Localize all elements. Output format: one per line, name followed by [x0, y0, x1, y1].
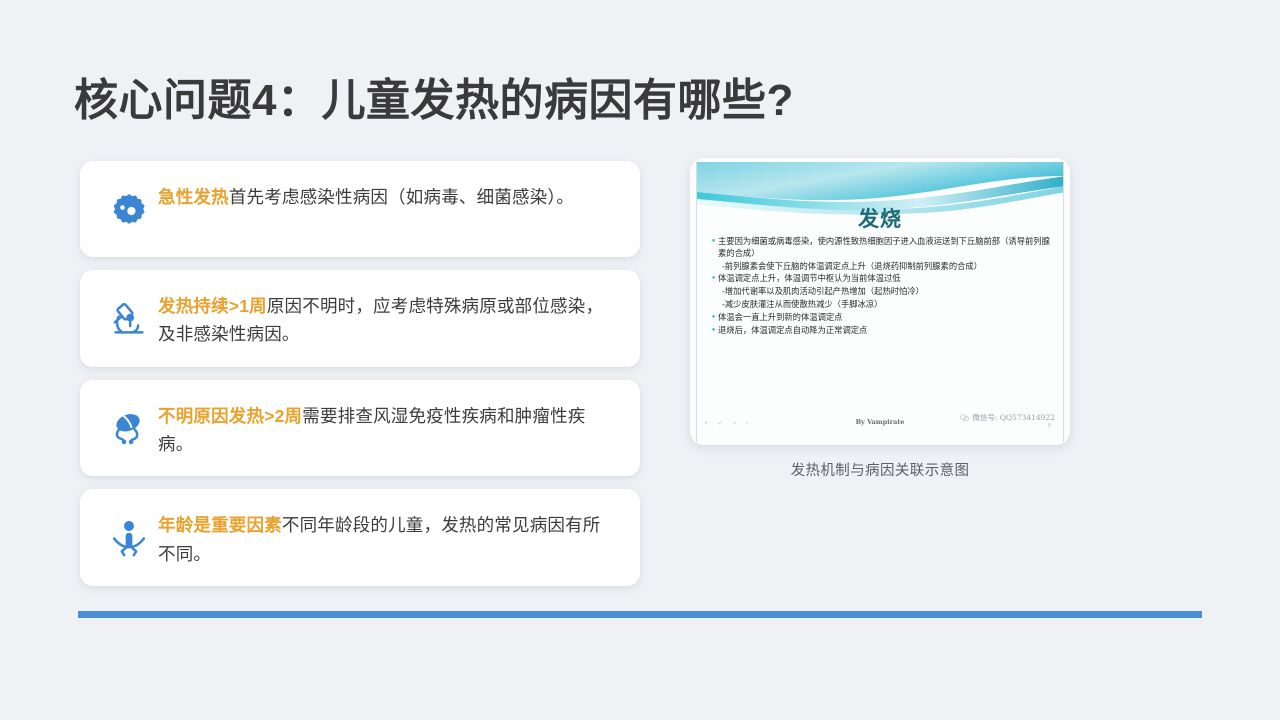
info-card-highlight: 急性发热	[158, 187, 229, 207]
slide-bullet: • 体温会一直上升到新的体温调定点	[709, 312, 1053, 324]
page-title: 核心问题4：儿童发热的病因有哪些?	[74, 64, 794, 128]
presentation-slide: 核心问题4：儿童发热的病因有哪些? 急性发热首先考虑感染性病因（如病毒、细菌感染…	[0, 0, 1280, 720]
slide-page-number: 5	[1048, 423, 1051, 429]
embedded-slide-body: • 主要因为细菌或病毒感染，使内源性致热细胞因子进入血液运送到下丘脑前部（诱导前…	[709, 236, 1053, 338]
wechat-id-text: 微信号: QQ573414922	[972, 412, 1055, 423]
microscope-icon	[100, 290, 158, 348]
embedded-slide-canvas: 发烧 • 主要因为细菌或病毒感染，使内源性致热细胞因子进入血液运送到下丘脑前部（…	[696, 162, 1064, 442]
figure-block: 发烧 • 主要因为细菌或病毒感染，使内源性致热细胞因子进入血液运送到下丘脑前部（…	[690, 158, 1070, 480]
bullet-dot-icon: •	[709, 312, 718, 324]
info-card-age-factor[interactable]: 年龄是重要因素不同年龄段的儿童，发热的常见病因有所不同。	[80, 489, 640, 586]
slide-subline: -增加代谢率以及肌肉活动引起产热增加（起热时怕冷）	[709, 286, 1053, 298]
info-card-text: 发热持续>1周原因不明时，应考虑特殊病原或部位感染，及非感染性病因。	[158, 288, 618, 349]
slide-subline: -减少皮肤灌注从而使散热减少（手脚冰凉）	[709, 299, 1053, 311]
virus-icon	[100, 181, 158, 239]
info-card-body: 首先考虑感染性病因（如病毒、细菌感染）。	[229, 187, 574, 207]
info-card-acute-fever[interactable]: 急性发热首先考虑感染性病因（如病毒、细菌感染）。	[80, 161, 640, 257]
slide-bullet: • 主要因为细菌或病毒感染，使内源性致热细胞因子进入血液运送到下丘脑前部（诱导前…	[709, 236, 1053, 260]
slide-bullet-text: 主要因为细菌或病毒感染，使内源性致热细胞因子进入血液运送到下丘脑前部（诱导前列腺…	[718, 236, 1053, 260]
info-card-unknown-origin-fever[interactable]: 不明原因发热>2周需要排查风湿免疫性疾病和肿瘤性疾病。	[80, 380, 640, 477]
info-card-text: 年龄是重要因素不同年龄段的儿童，发热的常见病因有所不同。	[158, 507, 618, 568]
info-card-highlight: 不明原因发热>2周	[158, 406, 302, 426]
wechat-id-label: 微信号: QQ573414922	[960, 412, 1055, 423]
embedded-slide-image[interactable]: 发烧 • 主要因为细菌或病毒感染，使内源性致热细胞因子进入血液运送到下丘脑前部（…	[690, 158, 1070, 445]
embedded-slide-footer: • ✓ ▪ ▫ By Vampirate 微信号: QQ573414922 5	[697, 412, 1063, 436]
info-card-prolonged-fever[interactable]: 发热持续>1周原因不明时，应考虑特殊病原或部位感染，及非感染性病因。	[80, 270, 640, 367]
wechat-icon	[960, 414, 969, 422]
info-card-text: 急性发热首先考虑感染性病因（如病毒、细菌感染）。	[158, 179, 618, 211]
slide-subline: -前列腺素会使下丘脑的体温调定点上升（退烧药抑制前列腺素的合成）	[709, 261, 1053, 273]
bullet-dot-icon: •	[709, 236, 718, 248]
bullet-dot-icon: •	[709, 273, 718, 285]
brain-icon	[100, 400, 158, 458]
slide-bullet: • 体温调定点上升，体温调节中枢认为当前体温过低	[709, 273, 1053, 285]
bottom-accent-bar	[78, 611, 1202, 618]
slide-bullet-text: 退烧后，体温调定点自动降为正常调定点	[718, 325, 1053, 337]
info-card-highlight: 发热持续>1周	[158, 296, 267, 316]
child-icon	[100, 509, 158, 567]
info-card-list: 急性发热首先考虑感染性病因（如病毒、细菌感染）。 发热持续>1周原因不明时，应考…	[80, 161, 640, 586]
embedded-slide-title: 发烧	[697, 203, 1063, 233]
bullet-dot-icon: •	[709, 325, 718, 337]
slide-bullet-text: 体温会一直上升到新的体温调定点	[718, 312, 1053, 324]
figure-caption: 发热机制与病因关联示意图	[690, 459, 1070, 480]
info-card-text: 不明原因发热>2周需要排查风湿免疫性疾病和肿瘤性疾病。	[158, 398, 618, 459]
info-card-highlight: 年龄是重要因素	[158, 515, 282, 535]
slide-bullet: • 退烧后，体温调定点自动降为正常调定点	[709, 325, 1053, 337]
slide-bullet-text: 体温调定点上升，体温调节中枢认为当前体温过低	[718, 273, 1053, 285]
